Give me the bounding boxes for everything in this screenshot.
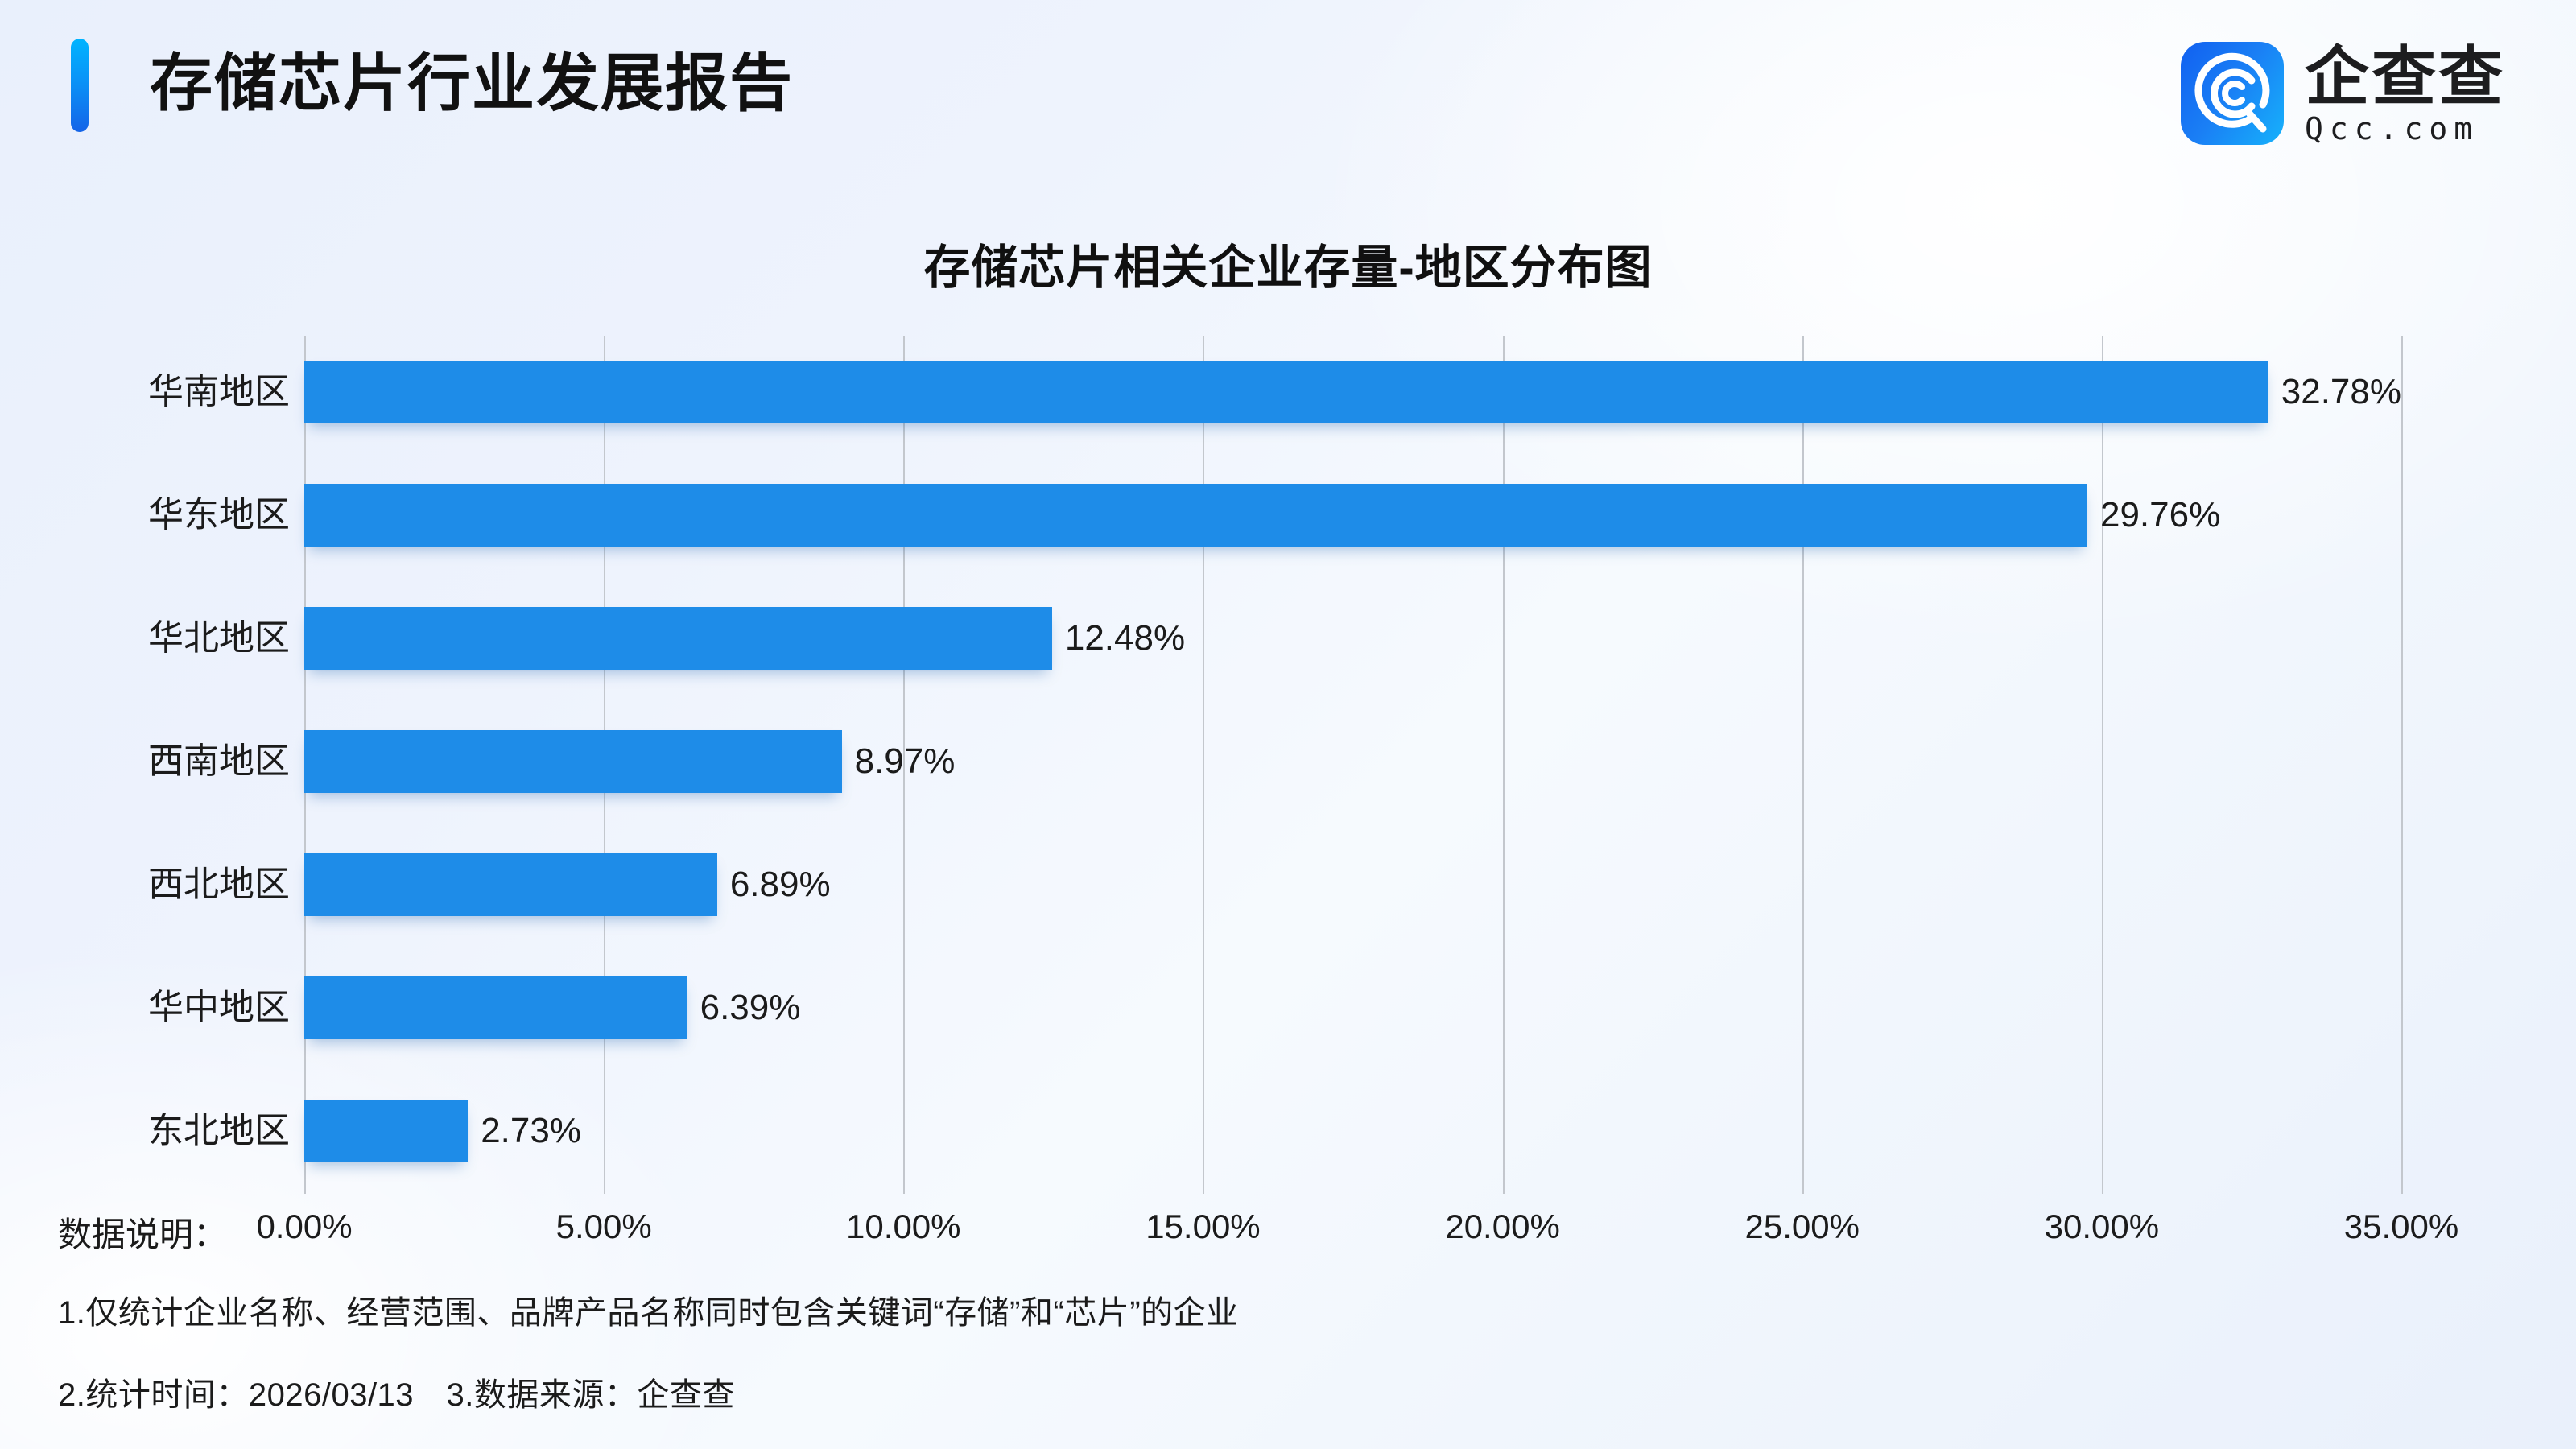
bar-group: 12.48% bbox=[304, 576, 1185, 700]
bar-value-label: 2.73% bbox=[481, 1100, 581, 1162]
bar-group: 6.89% bbox=[304, 823, 831, 946]
x-tick-label: 25.00% bbox=[1744, 1207, 1859, 1246]
bar[interactable] bbox=[304, 484, 2087, 547]
bar[interactable] bbox=[304, 1100, 468, 1162]
category-label: 华南地区 bbox=[148, 330, 290, 453]
x-tick-label: 20.00% bbox=[1445, 1207, 1559, 1246]
bar-value-label: 32.78% bbox=[2281, 361, 2401, 423]
x-tick-label: 10.00% bbox=[846, 1207, 960, 1246]
bar[interactable] bbox=[304, 976, 687, 1039]
bar-row: 西南地区8.97% bbox=[0, 700, 2576, 823]
bar-group: 6.39% bbox=[304, 946, 800, 1069]
bar-group: 32.78% bbox=[304, 330, 2401, 453]
bar-row: 华北地区12.48% bbox=[0, 576, 2576, 700]
x-tick-label: 0.00% bbox=[256, 1207, 352, 1246]
bar-chart: 华南地区32.78%华东地区29.76%华北地区12.48%西南地区8.97%西… bbox=[0, 322, 2576, 1207]
note-line-1: 1.仅统计企业名称、经营范围、品牌产品名称同时包含关键词“存储”和“芯片”的企业 bbox=[58, 1286, 1239, 1333]
brand-name-cn: 企查查 bbox=[2305, 42, 2505, 113]
x-tick-label: 35.00% bbox=[2344, 1207, 2458, 1246]
category-label: 西北地区 bbox=[148, 823, 290, 946]
x-tick-label: 30.00% bbox=[2045, 1207, 2159, 1246]
bar-group: 8.97% bbox=[304, 700, 955, 823]
bar-value-label: 29.76% bbox=[2100, 484, 2220, 547]
brand-wordmark: 企查查 Qcc.com bbox=[2305, 42, 2505, 147]
bar[interactable] bbox=[304, 730, 842, 793]
title-accent-bar bbox=[71, 39, 89, 132]
chart-bar-rows: 华南地区32.78%华东地区29.76%华北地区12.48%西南地区8.97%西… bbox=[0, 322, 2576, 1207]
brand-logo: 企查查 Qcc.com bbox=[2181, 42, 2505, 155]
bar-row: 华南地区32.78% bbox=[0, 330, 2576, 453]
x-tick-label: 5.00% bbox=[556, 1207, 652, 1246]
brand-domain: Qcc.com bbox=[2305, 111, 2505, 147]
category-label: 东北地区 bbox=[148, 1069, 290, 1192]
bar-value-label: 8.97% bbox=[855, 730, 956, 793]
bar[interactable] bbox=[304, 607, 1052, 670]
notes-label: 数据说明： bbox=[58, 1207, 227, 1257]
bar-value-label: 12.48% bbox=[1065, 607, 1185, 670]
x-axis-ticks: 0.00%5.00%10.00%15.00%20.00%25.00%30.00%… bbox=[0, 1207, 2576, 1256]
bar[interactable] bbox=[304, 853, 717, 916]
page-header: 存储芯片行业发展报告 企查查 Qcc.com bbox=[0, 0, 2576, 193]
bar-group: 29.76% bbox=[304, 453, 2220, 576]
category-label: 西南地区 bbox=[148, 700, 290, 823]
bar-group: 2.73% bbox=[304, 1069, 581, 1192]
page-title: 存储芯片行业发展报告 bbox=[150, 34, 794, 132]
category-label: 华东地区 bbox=[148, 453, 290, 576]
bar-row: 华中地区6.39% bbox=[0, 946, 2576, 1069]
bar-value-label: 6.89% bbox=[730, 853, 831, 916]
qcc-logo-icon bbox=[2181, 42, 2284, 145]
chart-title: 存储芯片相关企业存量-地区分布图 bbox=[0, 229, 2576, 297]
bar-row: 西北地区6.89% bbox=[0, 823, 2576, 946]
bar-value-label: 6.39% bbox=[700, 976, 801, 1039]
bar-row: 华东地区29.76% bbox=[0, 453, 2576, 576]
bar-row: 东北地区2.73% bbox=[0, 1069, 2576, 1192]
category-label: 华北地区 bbox=[148, 576, 290, 700]
bar[interactable] bbox=[304, 361, 2268, 423]
note-line-2: 2.统计时间：2026/03/13 3.数据来源：企查查 bbox=[58, 1368, 735, 1415]
x-tick-label: 15.00% bbox=[1146, 1207, 1260, 1246]
category-label: 华中地区 bbox=[148, 946, 290, 1069]
